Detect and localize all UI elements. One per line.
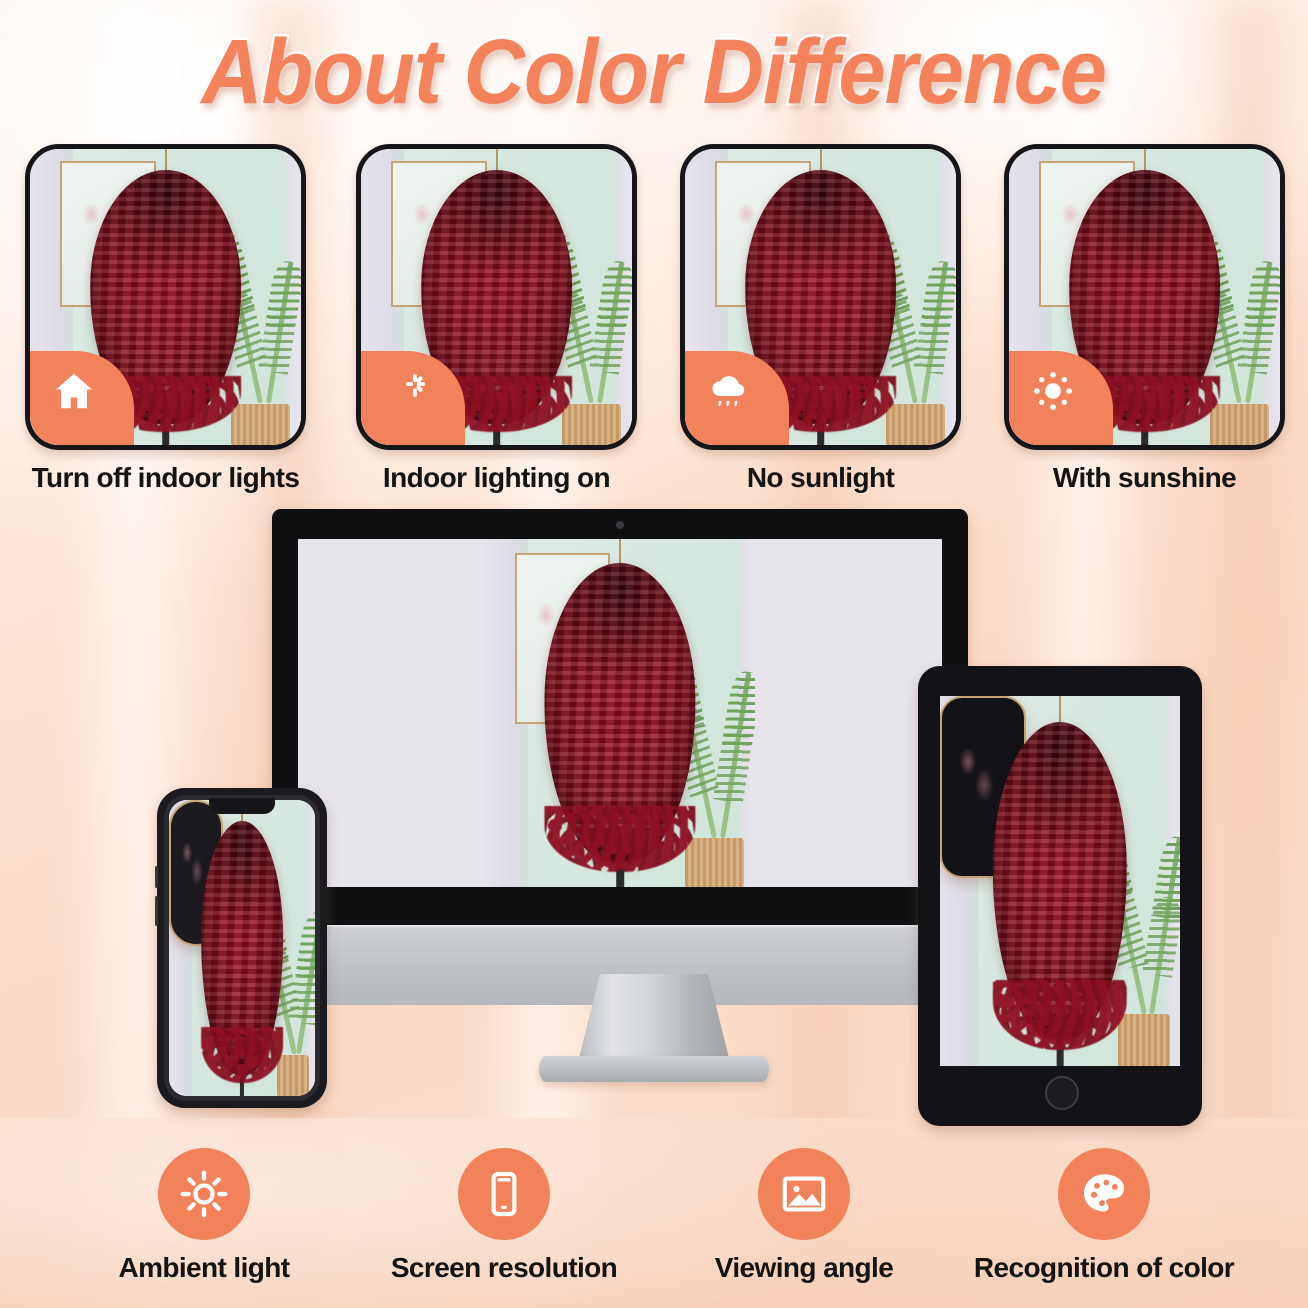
phone-notch (209, 798, 275, 814)
lighting-card-label: Turn off indoor lights (1, 462, 330, 494)
card-photo-frame (1004, 144, 1285, 450)
moon-sun-icon (382, 368, 428, 414)
monitor-screen (298, 539, 942, 887)
monitor-device[interactable] (272, 509, 968, 949)
product-photo (485, 539, 755, 887)
tablet-home-button[interactable] (1045, 1076, 1079, 1110)
rain-cloud-icon (706, 368, 752, 414)
phone-volume-up-button[interactable] (155, 866, 158, 888)
lighting-card-indoor-on[interactable]: Indoor lighting on (356, 144, 637, 450)
sun-icon (1030, 368, 1076, 414)
feature-label: Screen resolution (391, 1252, 617, 1284)
lighting-condition-cards: Turn off indoor lights Indoor lighting o… (0, 144, 1308, 494)
feature-ambient-light[interactable]: Ambient light (54, 1148, 354, 1284)
tablet-screen (940, 696, 1180, 1066)
feature-label: Recognition of color (974, 1252, 1234, 1284)
card-photo-frame (25, 144, 306, 450)
brightness-sun-icon (179, 1169, 229, 1219)
smartphone-icon-circle (458, 1148, 550, 1240)
phone-device[interactable] (157, 788, 327, 1108)
lighting-card-label: With sunshine (980, 462, 1308, 494)
feature-recognition-of-color[interactable]: Recognition of color (954, 1148, 1254, 1284)
page-title: About Color Difference (0, 26, 1308, 118)
lighting-card-with-sunshine[interactable]: With sunshine (1004, 144, 1285, 450)
monitor-stand-neck (579, 974, 729, 1058)
product-photo (169, 800, 315, 1096)
lighting-card-label: No sunlight (656, 462, 985, 494)
brightness-sun-icon-circle (158, 1148, 250, 1240)
color-factor-list: Ambient light Screen resolution Viewing … (0, 1148, 1308, 1298)
smartphone-icon (479, 1169, 529, 1219)
feature-label: Viewing angle (715, 1252, 893, 1284)
monitor-stand-base (539, 1056, 769, 1082)
phone-volume-down-button[interactable] (155, 896, 158, 926)
device-mockups (0, 500, 1308, 1120)
card-photo-frame (680, 144, 961, 450)
feature-viewing-angle[interactable]: Viewing angle (654, 1148, 954, 1284)
feature-label: Ambient light (118, 1252, 289, 1284)
lighting-card-no-sunlight[interactable]: No sunlight (680, 144, 961, 450)
phone-screen (169, 800, 315, 1096)
page-title-text: About Color Difference (202, 26, 1107, 118)
feature-screen-resolution[interactable]: Screen resolution (354, 1148, 654, 1284)
tablet-device[interactable] (918, 666, 1202, 1126)
image-photo-icon-circle (758, 1148, 850, 1240)
webcam-icon (616, 521, 624, 529)
lighting-card-label: Indoor lighting on (332, 462, 661, 494)
color-palette-icon-circle (1058, 1148, 1150, 1240)
color-palette-icon (1079, 1169, 1129, 1219)
image-photo-icon (779, 1169, 829, 1219)
lighting-card-indoor-off[interactable]: Turn off indoor lights (25, 144, 306, 450)
house-icon (51, 368, 97, 414)
card-photo-frame (356, 144, 637, 450)
product-photo (940, 696, 1180, 1066)
